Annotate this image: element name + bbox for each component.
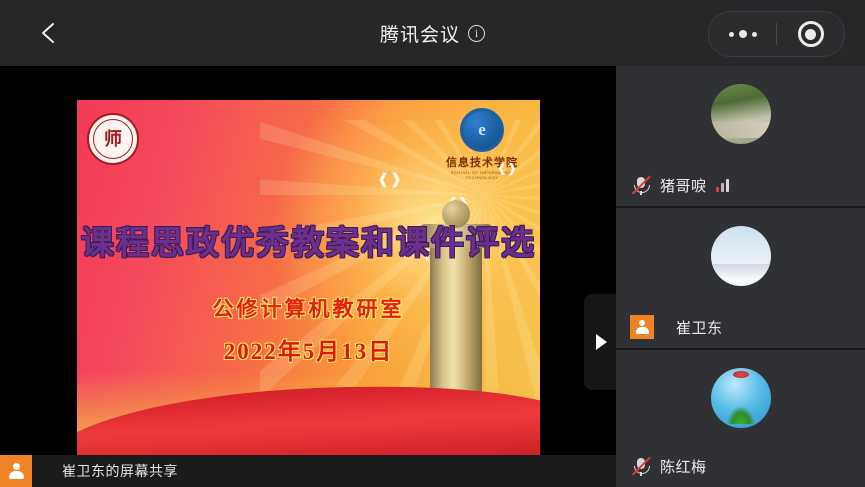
chevron-right-triangle-icon (596, 334, 607, 350)
app-header: 腾讯会议 i (0, 0, 865, 66)
avatar (711, 84, 771, 144)
dove-icon: ❰❱ (497, 162, 517, 174)
participant-tile[interactable]: 陈红梅 (616, 350, 865, 487)
participant-footer: 猪哥唳 (616, 172, 865, 198)
signal-bars-icon (716, 179, 729, 192)
seal-glyph: 师 (104, 130, 122, 148)
participant-footer: 陈红梅 (616, 453, 865, 479)
screen-share-status-bar: 崔卫东的屏幕共享 (0, 455, 616, 487)
more-dots-icon[interactable] (709, 30, 776, 38)
participant-tile[interactable]: 猪哥唳 (616, 66, 865, 208)
screen-share-label: 崔卫东的屏幕共享 (62, 461, 178, 481)
person-share-icon (630, 315, 654, 339)
institute-mark-icon: e (460, 108, 504, 152)
mic-muted-icon[interactable] (630, 455, 652, 477)
slide-title: 课程思政优秀教案和课件评选 (77, 216, 540, 264)
participant-tile[interactable]: 崔卫东 (616, 208, 865, 350)
page-title: 腾讯会议 (380, 20, 460, 47)
institute-mark-glyph: e (478, 120, 486, 140)
mic-muted-icon[interactable] (630, 174, 652, 196)
shared-slide: 师 e 信息技术学院 SCHOOL OF INFORMATION TECHNOL… (77, 100, 540, 455)
university-seal-icon: 师 (87, 113, 139, 165)
dove-icon: ❰❱ (377, 172, 402, 187)
avatar (711, 368, 771, 428)
miniprogram-capsule (708, 11, 845, 57)
person-share-icon (0, 455, 32, 487)
participant-name: 崔卫东 (676, 317, 723, 338)
slide-date: 2022年5月13日 (77, 332, 540, 366)
participant-name: 陈红梅 (660, 456, 707, 477)
avatar (711, 226, 771, 286)
meeting-screen: 腾讯会议 i 师 e 信息技术学院 SCHOOL OF INFORMATIO (0, 0, 865, 487)
participant-name: 猪哥唳 (660, 175, 707, 196)
slide-subtitle: 公修计算机教研室 (77, 293, 540, 323)
target-circle-icon[interactable] (777, 21, 844, 47)
participant-footer: 崔卫东 (616, 314, 865, 340)
participant-rail: 猪哥唳 崔卫东 陈红梅 (616, 66, 865, 487)
shared-screen-stage[interactable]: 师 e 信息技术学院 SCHOOL OF INFORMATION TECHNOL… (0, 66, 616, 455)
info-circle-icon[interactable]: i (468, 25, 485, 42)
panel-toggle-handle[interactable] (584, 294, 616, 390)
